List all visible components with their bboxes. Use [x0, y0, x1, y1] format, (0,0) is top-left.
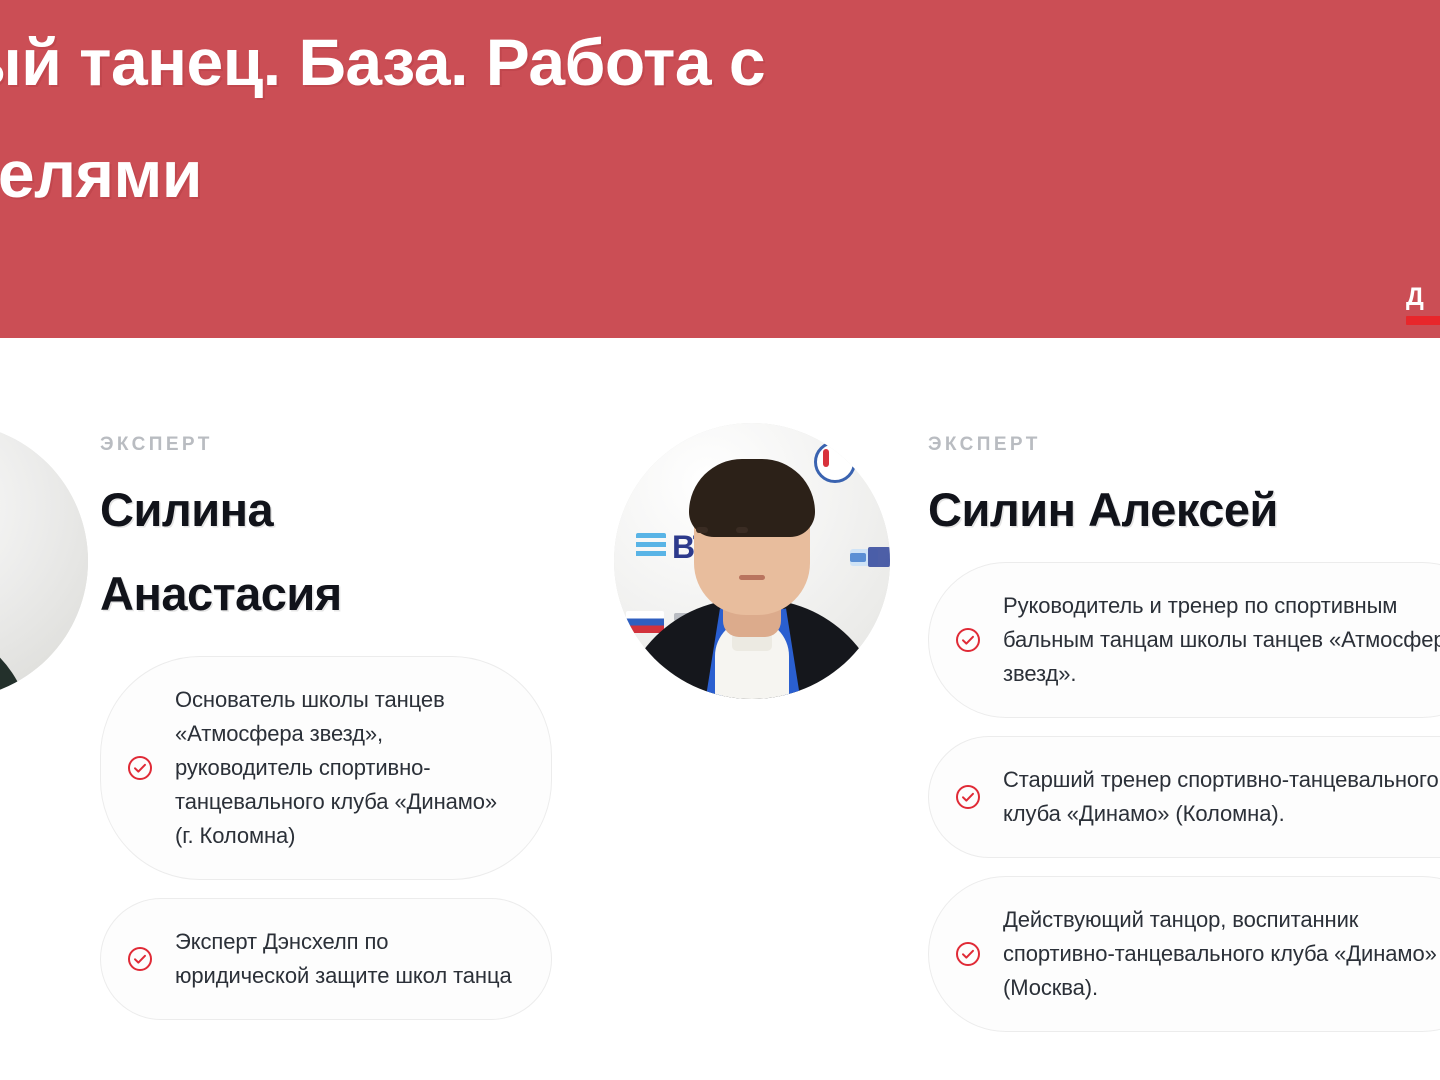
expert-name: Силина Анастасия [100, 468, 570, 636]
check-circle-icon [955, 941, 981, 967]
avatar: ВТ [614, 423, 890, 699]
list-item-text: Руководитель и тренер по спортивным баль… [1003, 593, 1440, 686]
list-item: Основатель школы танцев «Атмосфера звезд… [100, 656, 552, 880]
check-circle-icon [127, 946, 153, 972]
check-circle-icon [127, 755, 153, 781]
list-item: Действующий танцор, воспитанник спортивн… [928, 876, 1440, 1032]
photo-eye-icon [696, 527, 708, 533]
experts-section: ЭКСПЕРТ Силина Анастасия Основатель школ… [0, 338, 1440, 1080]
list-item: Эксперт Дэнсхелп по юридической защите ш… [100, 898, 552, 1020]
sponsor-badge-icon [868, 547, 890, 567]
list-item-text: Старший тренер спортивно-танцевального к… [1003, 767, 1439, 826]
check-circle-icon [955, 784, 981, 810]
hero-cta-button[interactable]: Д [1406, 283, 1440, 325]
hero-title: ный танец. База. Работа с ителями [0, 6, 1326, 230]
photo-mouth-icon [739, 575, 765, 580]
hero-cta-underline [1406, 316, 1440, 325]
expert-card-silin-aleksey: ВТ ЭКСПЕРТ Силин Алексей [600, 338, 1440, 1080]
list-item-text: Действующий танцор, воспитанник спортивн… [1003, 907, 1437, 1000]
sponsor-ring-icon [814, 441, 856, 483]
sponsor-ring-inner-icon [823, 449, 829, 467]
expert-card-silina-anastasia: ЭКСПЕРТ Силина Анастасия Основатель школ… [0, 338, 602, 1080]
photo-eye-icon [736, 527, 748, 533]
hero-banner: ный танец. База. Работа с ителями Д [0, 0, 1440, 338]
vtb-logo-icon [636, 533, 666, 559]
list-item-text: Основатель школы танцев «Атмосфера звезд… [175, 687, 497, 848]
sponsor-badge-icon [862, 459, 888, 475]
flag-icon [626, 611, 664, 633]
list-item: Руководитель и тренер по спортивным баль… [928, 562, 1440, 718]
photo-hair-icon [689, 459, 815, 537]
avatar [0, 423, 88, 699]
expert-kicker: ЭКСПЕРТ [100, 434, 213, 456]
expert-kicker: ЭКСПЕРТ [928, 434, 1041, 456]
sponsor-badge-icon [850, 553, 866, 562]
expert-bullet-list: Руководитель и тренер по спортивным баль… [928, 562, 1440, 1050]
photo-backdrop-icon [0, 423, 88, 699]
list-item: Старший тренер спортивно-танцевального к… [928, 736, 1440, 858]
check-circle-icon [955, 627, 981, 653]
expert-name: Силин Алексей [928, 468, 1440, 552]
list-item-text: Эксперт Дэнсхелп по юридической защите ш… [175, 929, 512, 988]
expert-bullet-list: Основатель школы танцев «Атмосфера звезд… [100, 656, 570, 1038]
hero-cta-label: Д [1406, 283, 1440, 311]
